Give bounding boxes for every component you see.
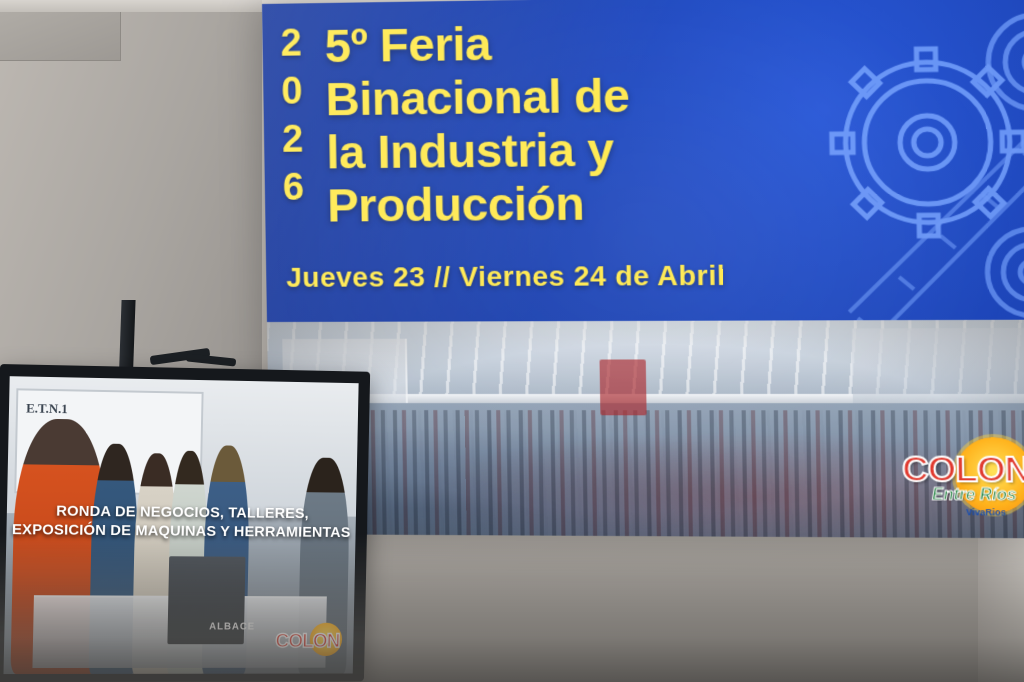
room-background: 2 0 2 6 5º Feria Binacional de la Indust… xyxy=(0,0,1024,682)
year-digit-3: 2 xyxy=(282,116,307,164)
colon-logo: COLON Entre Ríos VivaRios xyxy=(902,435,1024,530)
projection-screen: 2 0 2 6 5º Feria Binacional de la Indust… xyxy=(262,0,1024,538)
colon-logo-tag: VivaRios xyxy=(966,507,1006,517)
year-digit-4: 6 xyxy=(282,164,307,212)
slide-title: 5º Feria Binacional de la Industria y Pr… xyxy=(324,14,631,231)
colon-logo-word: COLON xyxy=(902,449,1024,491)
floor-shadow xyxy=(0,532,1024,682)
colon-logo-subtitle: Entre Ríos xyxy=(932,486,1024,505)
slide-photo-band: COLON Entre Ríos VivaRios xyxy=(267,320,1024,539)
title-line-2: Binacional de xyxy=(325,68,630,125)
slide-year: 2 0 2 6 xyxy=(280,19,307,212)
year-digit-2: 0 xyxy=(281,67,306,115)
slide-dates: Jueves 23 // Viernes 24 de Abril xyxy=(286,260,726,294)
year-digit-1: 2 xyxy=(280,19,305,67)
whiteboard-line-1: E.T.N.1 xyxy=(26,400,68,417)
gears-graphic xyxy=(722,1,1024,322)
title-line-1: 5º Feria xyxy=(324,14,629,72)
title-line-4: Producción xyxy=(327,176,632,232)
title-line-3: la Industria y xyxy=(326,122,631,178)
slide-upper-panel: 2 0 2 6 5º Feria Binacional de la Indust… xyxy=(262,0,1024,322)
